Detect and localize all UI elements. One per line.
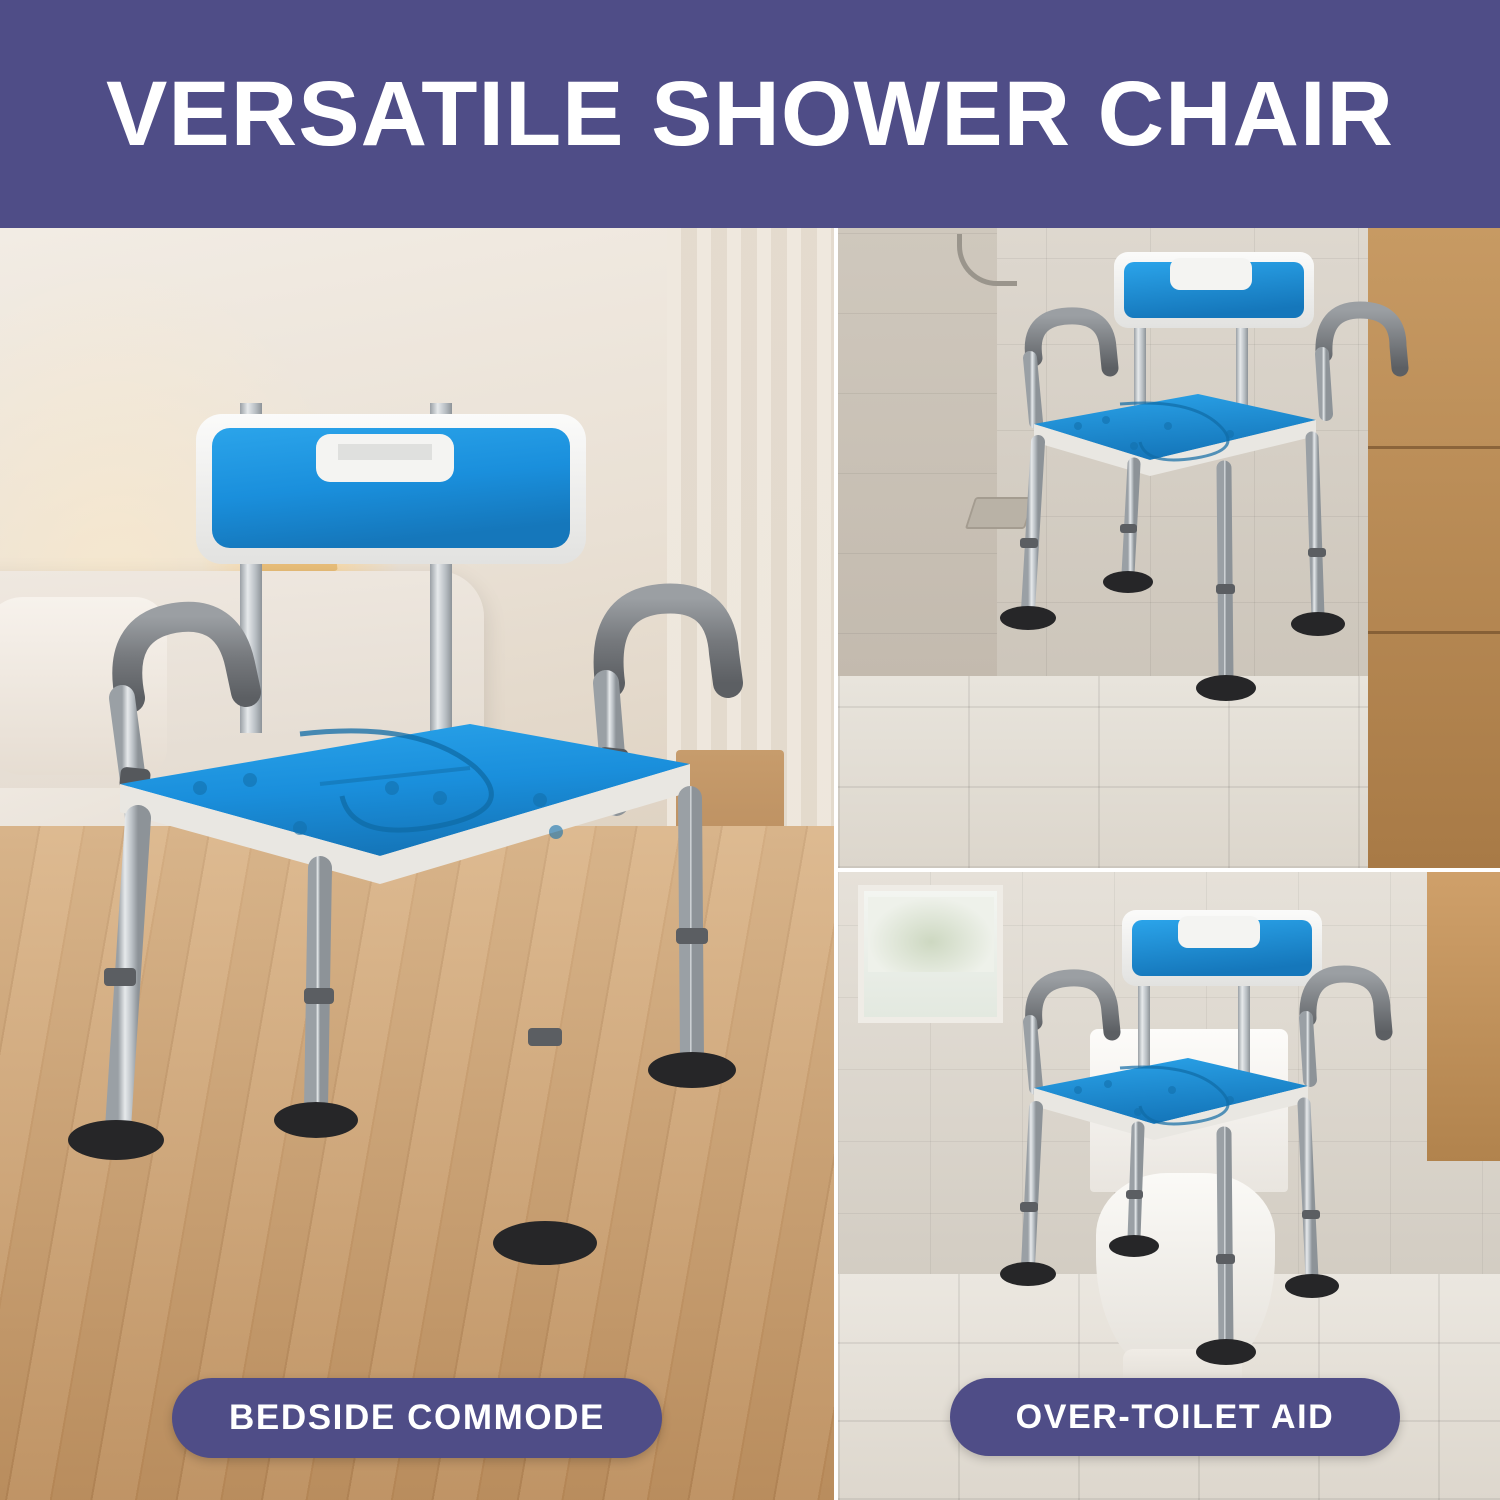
product-infographic: VERSATILE SHOWER CHAIR [0, 0, 1500, 1500]
legs-group [1000, 438, 1345, 701]
image-grid: BEDSIDE COMMODE [0, 228, 1500, 1500]
label-over-toilet-aid: OVER-TOILET AID [950, 1378, 1400, 1456]
shower-chair-bathing [838, 228, 1500, 868]
panel-bedside-commode: BEDSIDE COMMODE [0, 228, 834, 1500]
grid-divider-vertical [834, 228, 838, 1500]
panel-over-toilet-aid: OVER-TOILET AID [838, 872, 1500, 1500]
armrest-left [1030, 978, 1112, 1088]
header-banner: VERSATILE SHOWER CHAIR [0, 0, 1500, 228]
panel-assisted-bathing: ASSISTED BATHING [838, 228, 1500, 868]
seat-group [1034, 1058, 1308, 1140]
shower-chair-bedside [0, 228, 834, 1500]
armrest-right [1322, 310, 1400, 414]
legs-group [1000, 1104, 1339, 1365]
seat-group [1034, 394, 1316, 476]
label-bedside-commode: BEDSIDE COMMODE [172, 1378, 662, 1458]
grid-divider-horizontal [838, 868, 1500, 872]
armrest-left [1030, 316, 1110, 422]
page-title: VERSATILE SHOWER CHAIR [106, 68, 1394, 160]
armrest-right [1306, 974, 1384, 1080]
